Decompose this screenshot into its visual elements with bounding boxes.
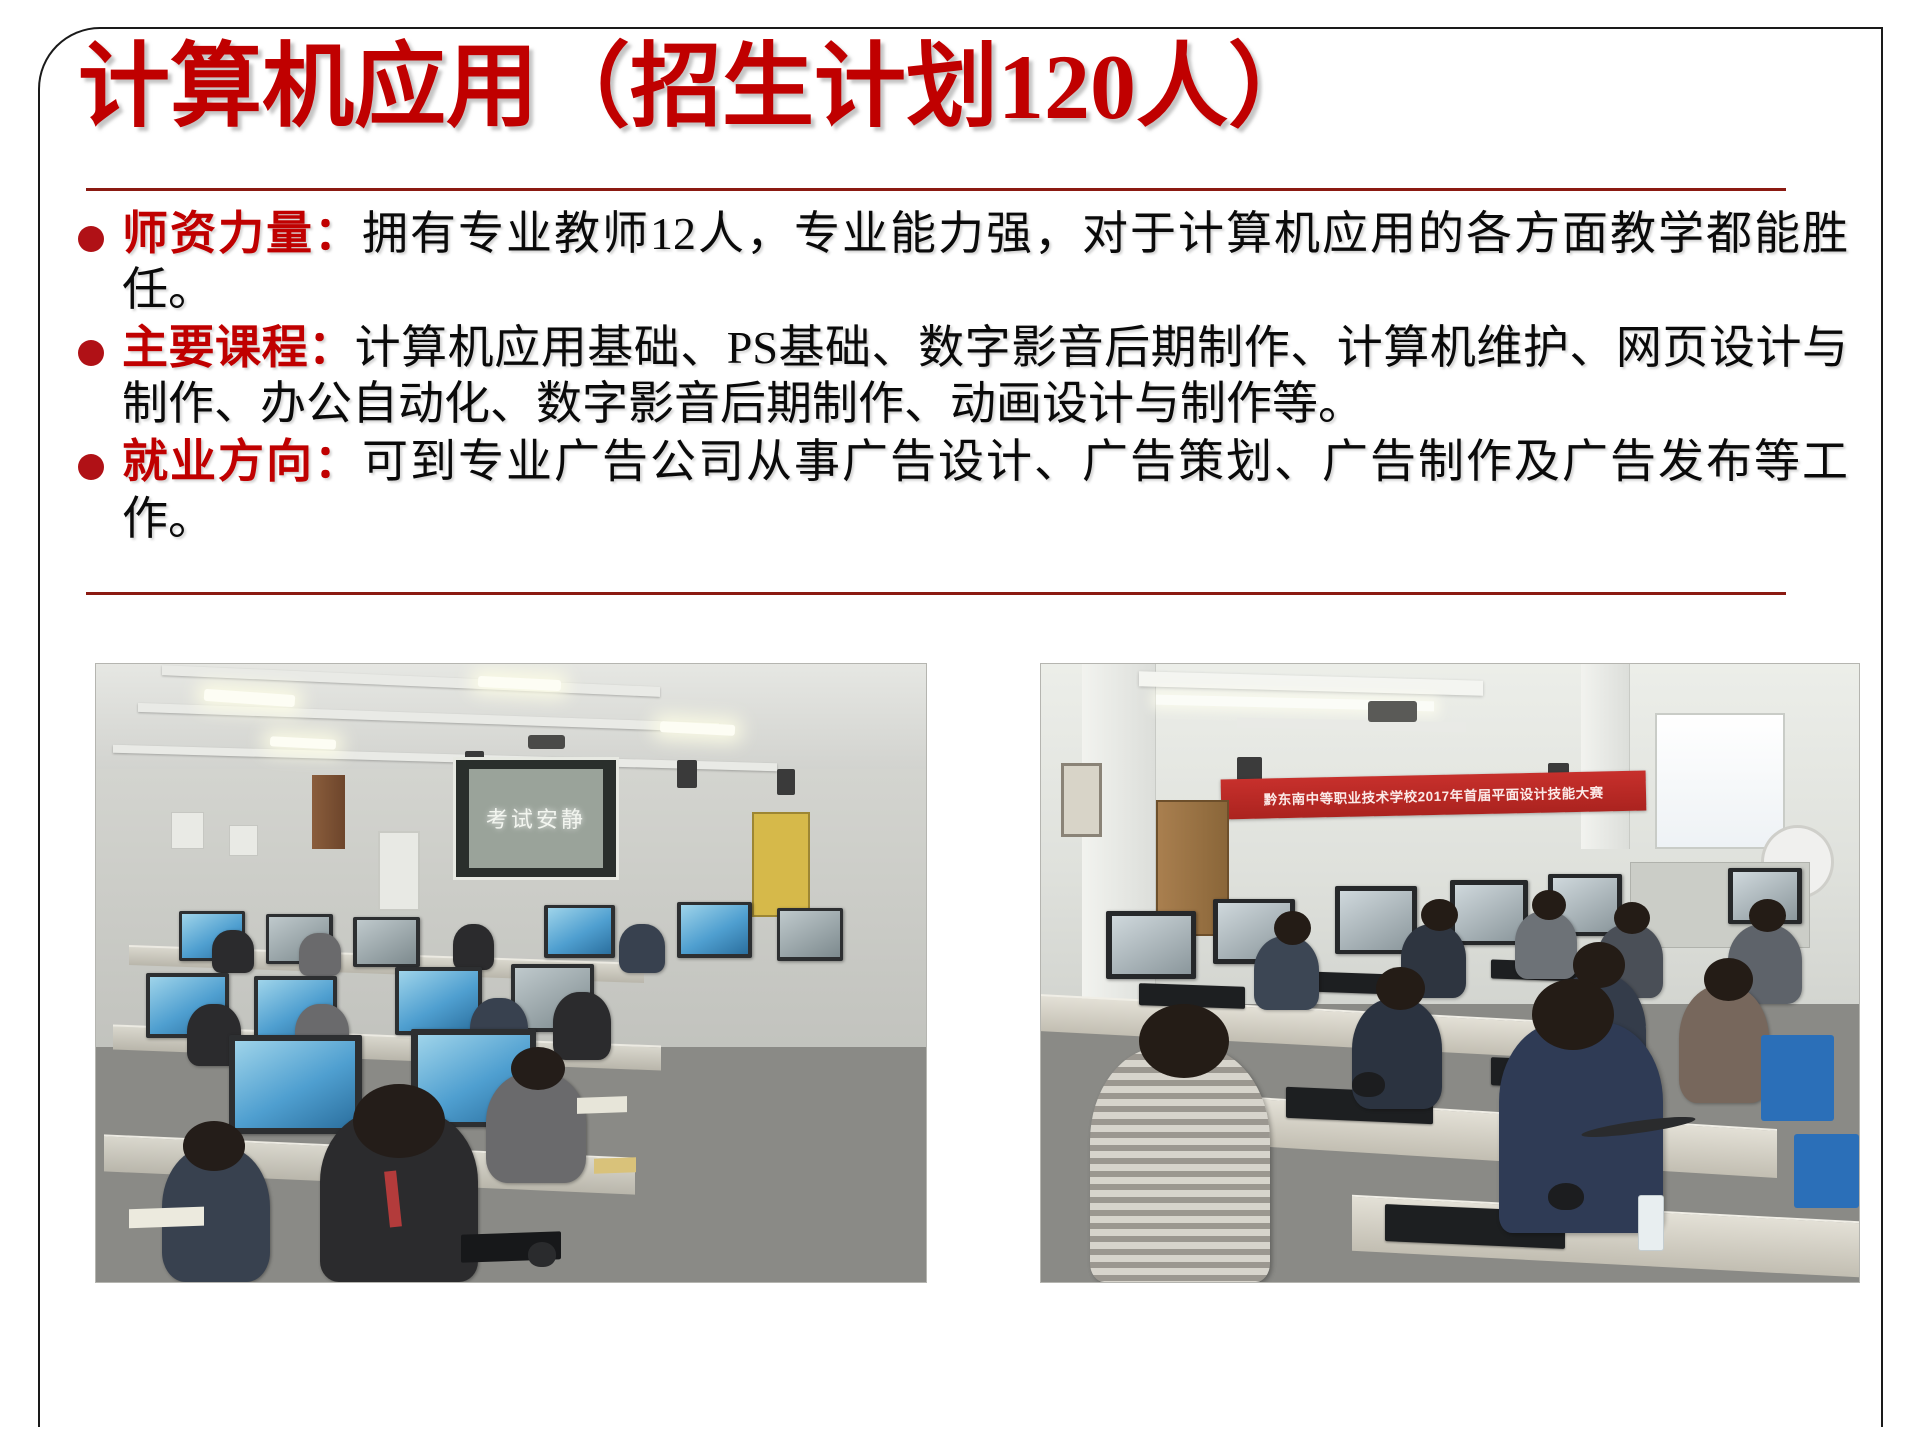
event-banner-text: 黔东南中等职业技术学校2017年首届平面设计技能大赛 (1263, 782, 1603, 809)
bullet-dot-icon (78, 454, 104, 480)
bullet-body: 可到专业广告公司从事广告设计、广告策划、广告制作及广告发布等工作。 (122, 436, 1848, 543)
photo-row: 考试安静 (0, 655, 1920, 1295)
bullet-content: 师资力量：拥有专业教师12人，专业能力强，对于计算机应用的各方面教学都能胜任。 (122, 206, 1848, 318)
bullet-content: 就业方向：可到专业广告公司从事广告设计、广告策划、广告制作及广告发布等工作。 (122, 434, 1848, 546)
page-title: 计算机应用（招生计划120人） (78, 38, 1778, 137)
bullet-content: 主要课程：计算机应用基础、PS基础、数字影音后期制作、计算机维护、网页设计与制作… (122, 320, 1848, 432)
list-item: 就业方向：可到专业广告公司从事广告设计、广告策划、广告制作及广告发布等工作。 (78, 434, 1848, 546)
projection-screen: 考试安静 (453, 757, 619, 881)
slide-canvas: 计算机应用（招生计划120人） 师资力量：拥有专业教师12人，专业能力强，对于计… (0, 0, 1920, 1440)
bullet-dot-icon (78, 226, 104, 252)
divider-top (86, 188, 1786, 191)
list-item: 师资力量：拥有专业教师12人，专业能力强，对于计算机应用的各方面教学都能胜任。 (78, 206, 1848, 318)
bullet-label: 就业方向： (122, 436, 362, 487)
bullet-label: 主要课程： (122, 322, 355, 373)
bullet-list: 师资力量：拥有专业教师12人，专业能力强，对于计算机应用的各方面教学都能胜任。 … (78, 206, 1848, 549)
bullet-body: 拥有专业教师12人，专业能力强，对于计算机应用的各方面教学都能胜任。 (122, 208, 1848, 315)
list-item: 主要课程：计算机应用基础、PS基础、数字影音后期制作、计算机维护、网页设计与制作… (78, 320, 1848, 432)
divider-bottom (86, 592, 1786, 595)
bullet-dot-icon (78, 340, 104, 366)
classroom-photo-right: 黔东南中等职业技术学校2017年首届平面设计技能大赛 (1040, 663, 1860, 1283)
bullet-label: 师资力量： (122, 208, 362, 259)
projection-screen-text: 考试安静 (486, 802, 586, 834)
classroom-photo-left: 考试安静 (95, 663, 927, 1283)
bullet-body: 计算机应用基础、PS基础、数字影音后期制作、计算机维护、网页设计与制作、办公自动… (122, 322, 1848, 429)
